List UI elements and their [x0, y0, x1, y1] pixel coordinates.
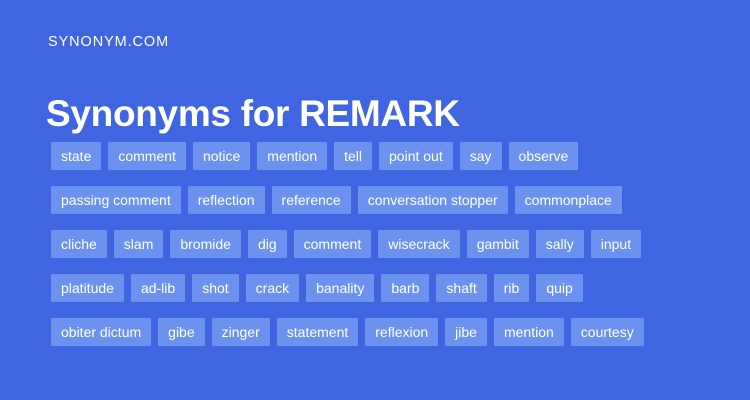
- synonym-tag[interactable]: ad-lib: [131, 274, 185, 302]
- synonym-tag-row: statecommentnoticementiontellpoint outsa…: [51, 142, 730, 170]
- synonym-tag[interactable]: dig: [248, 230, 287, 258]
- synonym-tag[interactable]: gambit: [467, 230, 529, 258]
- synonym-tag[interactable]: wisecrack: [378, 230, 459, 258]
- synonym-tag[interactable]: reference: [272, 186, 351, 214]
- synonym-tag[interactable]: conversation stopper: [358, 186, 508, 214]
- synonym-tag[interactable]: quip: [536, 274, 582, 302]
- synonyms-page: SYNONYM.COM Synonyms for REMARK statecom…: [0, 0, 750, 400]
- synonym-tag[interactable]: slam: [114, 230, 164, 258]
- synonym-tag[interactable]: cliche: [51, 230, 107, 258]
- synonym-tag[interactable]: reflexion: [365, 318, 438, 346]
- synonym-tag-row: passing commentreflectionreferenceconver…: [51, 186, 730, 214]
- synonym-tag-row: clicheslambromidedigcommentwisecrackgamb…: [51, 230, 730, 258]
- synonym-tag[interactable]: shot: [192, 274, 238, 302]
- synonym-tag[interactable]: barb: [381, 274, 429, 302]
- site-brand: SYNONYM.COM: [48, 34, 169, 50]
- synonym-tag[interactable]: commonplace: [515, 186, 622, 214]
- synonym-tag[interactable]: sally: [536, 230, 584, 258]
- synonym-tag[interactable]: comment: [108, 142, 186, 170]
- synonym-tag[interactable]: crack: [246, 274, 299, 302]
- synonym-tag[interactable]: shaft: [436, 274, 486, 302]
- synonym-tag[interactable]: rib: [494, 274, 530, 302]
- synonym-tag[interactable]: input: [591, 230, 641, 258]
- synonym-tag[interactable]: jibe: [445, 318, 487, 346]
- synonym-tag[interactable]: passing comment: [51, 186, 181, 214]
- synonym-tag[interactable]: tell: [334, 142, 372, 170]
- page-title: Synonyms for REMARK: [46, 92, 460, 136]
- synonym-tag[interactable]: mention: [494, 318, 564, 346]
- synonym-tag[interactable]: courtesy: [571, 318, 644, 346]
- synonym-tag-row: obiter dictumgibezingerstatementreflexio…: [51, 318, 730, 346]
- synonym-tag[interactable]: comment: [294, 230, 372, 258]
- synonym-tag[interactable]: statement: [277, 318, 358, 346]
- synonym-tag[interactable]: reflection: [188, 186, 265, 214]
- synonym-tag[interactable]: observe: [509, 142, 579, 170]
- synonym-tag[interactable]: say: [460, 142, 502, 170]
- synonym-tag-list: statecommentnoticementiontellpoint outsa…: [51, 142, 730, 346]
- synonym-tag[interactable]: zinger: [212, 318, 270, 346]
- synonym-tag[interactable]: state: [51, 142, 101, 170]
- synonym-tag[interactable]: platitude: [51, 274, 124, 302]
- synonym-tag[interactable]: bromide: [170, 230, 241, 258]
- synonym-tag[interactable]: point out: [379, 142, 453, 170]
- synonym-tag[interactable]: obiter dictum: [51, 318, 151, 346]
- synonym-tag-row: platitudead-libshotcrackbanalitybarbshaf…: [51, 274, 730, 302]
- synonym-tag[interactable]: mention: [257, 142, 327, 170]
- synonym-tag[interactable]: notice: [193, 142, 250, 170]
- synonym-tag[interactable]: banality: [306, 274, 374, 302]
- synonym-tag[interactable]: gibe: [158, 318, 204, 346]
